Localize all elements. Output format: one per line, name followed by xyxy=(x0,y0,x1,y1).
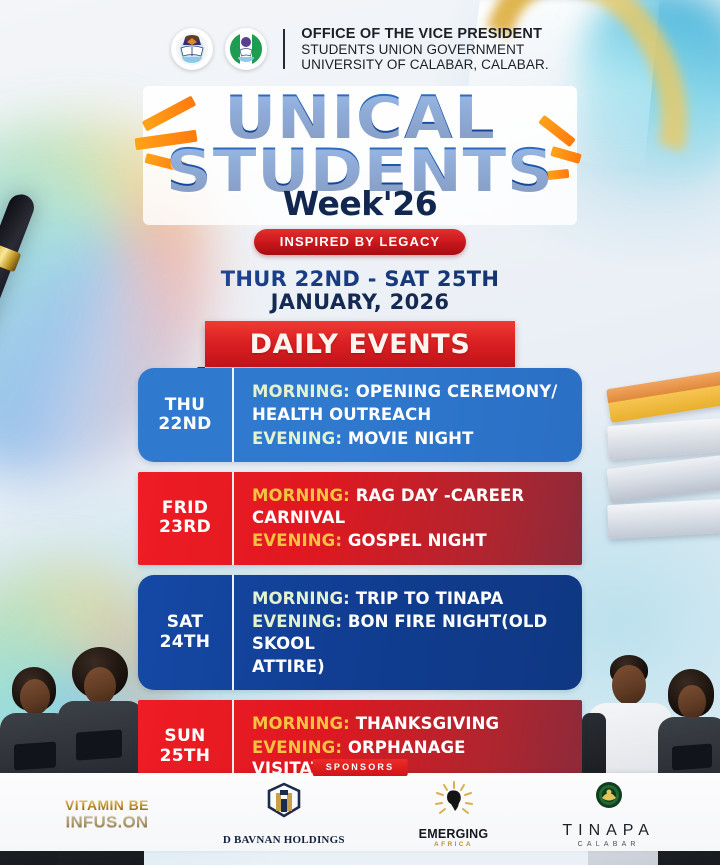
organization-titles: OFFICE OF THE VICE PRESIDENT STUDENTS UN… xyxy=(301,26,548,72)
schedule-event-label: MORNING: xyxy=(252,589,350,608)
schedule-event-text: HEALTH OUTREACH xyxy=(252,405,431,424)
schedule-day-line-1: SAT xyxy=(167,613,204,632)
schedule-row-day: SAT24TH xyxy=(138,575,234,691)
sponsors-tab-label: SPONSORS xyxy=(313,759,408,776)
schedule-event-text: THANKSGIVING xyxy=(350,714,499,733)
schedule-row-body: MORNING: RAG DAY -CAREER CARNIVALEVENING… xyxy=(234,472,582,564)
sponsor-emerging-africa: EMERGING AFRICA xyxy=(419,781,489,848)
header-divider xyxy=(283,29,285,69)
poster-header: OFFICE OF THE VICE PRESIDENT STUDENTS UN… xyxy=(0,26,720,72)
schedule-list: THU22NDMORNING: OPENING CEREMONY/HEALTH … xyxy=(138,368,582,803)
date-line-1: THUR 22ND - SAT 25TH xyxy=(0,268,720,291)
date-line-2: JANUARY, 2026 xyxy=(0,291,720,314)
d-bavnan-holdings-logo xyxy=(261,782,307,829)
schedule-event-text: TRIP TO TINAPA xyxy=(350,589,504,608)
daily-events-banner: DAILY EVENTS xyxy=(205,321,515,367)
sponsor-tinapa-name: TINAPA xyxy=(562,822,655,840)
sponsors-bar: SPONSORS VITAMIN BE INFUS.ON xyxy=(0,773,720,851)
schedule-row-body: MORNING: TRIP TO TINAPAEVENING: BON FIRE… xyxy=(234,575,582,691)
schedule-event-line: EVENING: BON FIRE NIGHT(OLD SKOOL xyxy=(252,611,568,654)
schedule-event-text: GOSPEL NIGHT xyxy=(342,531,487,550)
sponsor-emerging-sub: AFRICA xyxy=(419,841,489,848)
sponsor-vitamin-bottom-text: INFUS.ON xyxy=(65,813,149,830)
schedule-row: FRID23RDMORNING: RAG DAY -CAREER CARNIVA… xyxy=(138,472,582,564)
unical-crest-icon xyxy=(171,28,213,70)
sponsor-tinapa-sub: CALABAR xyxy=(562,841,655,848)
schedule-row: THU22NDMORNING: OPENING CEREMONY/HEALTH … xyxy=(138,368,582,462)
poster-canvas: OFFICE OF THE VICE PRESIDENT STUDENTS UN… xyxy=(0,0,720,865)
schedule-event-line: HEALTH OUTREACH xyxy=(252,404,568,425)
schedule-day-line-2: 24TH xyxy=(160,633,211,652)
sponsor-vitamin-be-infusion: VITAMIN BE INFUS.ON xyxy=(65,798,149,830)
schedule-event-text: ATTIRE) xyxy=(252,657,325,676)
schedule-row: SAT24THMORNING: TRIP TO TINAPAEVENING: B… xyxy=(138,575,582,691)
book-stack-icon xyxy=(600,380,720,560)
schedule-event-text: OPENING CEREMONY/ xyxy=(350,382,558,401)
event-dates: THUR 22ND - SAT 25TH JANUARY, 2026 xyxy=(0,268,720,313)
schedule-event-label: EVENING: xyxy=(252,531,342,550)
schedule-event-line: MORNING: RAG DAY -CAREER CARNIVAL xyxy=(252,485,568,528)
schedule-event-label: MORNING: xyxy=(252,486,350,505)
event-title-block: UNICAL STUDENTS Week'26 INSPIRED BY LEGA… xyxy=(0,86,720,255)
sponsors-row: VITAMIN BE INFUS.ON D BAVNAN HOLDINGS xyxy=(0,773,720,851)
sponsor-tinapa-calabar: TINAPA CALABAR xyxy=(562,780,655,848)
schedule-row-day: THU22ND xyxy=(138,368,234,462)
org-line-sug: STUDENTS UNION GOVERNMENT xyxy=(301,42,548,57)
schedule-day-line-2: 25TH xyxy=(160,747,211,766)
schedule-event-label: MORNING: xyxy=(252,382,350,401)
schedule-day-line-2: 22ND xyxy=(158,415,211,434)
schedule-day-line-1: FRID xyxy=(162,499,208,518)
title-week: Week'26 xyxy=(177,184,543,223)
title-plate: UNICAL STUDENTS Week'26 xyxy=(143,86,577,225)
schedule-event-label: EVENING: xyxy=(252,738,342,757)
schedule-day-line-1: SUN xyxy=(164,727,205,746)
schedule-event-line: MORNING: TRIP TO TINAPA xyxy=(252,588,568,609)
schedule-day-line-1: THU xyxy=(165,396,206,415)
schedule-event-text: MOVIE NIGHT xyxy=(342,429,473,448)
sponsor-emerging-name: EMERGING xyxy=(419,827,489,841)
sponsor-bavnan-name: D BAVNAN HOLDINGS xyxy=(223,834,345,846)
schedule-event-line: MORNING: OPENING CEREMONY/ xyxy=(252,381,568,402)
daily-events-label: DAILY EVENTS xyxy=(250,329,471,360)
schedule-event-label: EVENING: xyxy=(252,612,342,631)
schedule-event-label: MORNING: xyxy=(252,714,350,733)
schedule-event-line: ATTIRE) xyxy=(252,656,568,677)
schedule-row-day: FRID23RD xyxy=(138,472,234,564)
emerging-africa-sun-logo xyxy=(433,781,475,824)
sponsor-d-bavnan-holdings: D BAVNAN HOLDINGS xyxy=(223,782,345,846)
schedule-day-line-2: 23RD xyxy=(159,518,211,537)
org-line-office: OFFICE OF THE VICE PRESIDENT xyxy=(301,26,548,42)
schedule-event-line: EVENING: MOVIE NIGHT xyxy=(252,428,568,449)
tinapa-calabar-logo xyxy=(591,780,627,819)
schedule-row-body: MORNING: OPENING CEREMONY/HEALTH OUTREAC… xyxy=(234,368,582,462)
schedule-event-label: EVENING: xyxy=(252,429,342,448)
sponsor-vitamin-top-text: VITAMIN BE xyxy=(65,798,149,812)
schedule-event-line: MORNING: THANKSGIVING xyxy=(252,713,568,734)
schedule-event-line: EVENING: GOSPEL NIGHT xyxy=(252,530,568,551)
org-line-university: UNIVERSITY OF CALABAR, CALABAR. xyxy=(301,57,548,72)
nigeria-flag-crest-icon xyxy=(225,28,267,70)
title-tagline-badge: INSPIRED BY LEGACY xyxy=(254,229,466,255)
